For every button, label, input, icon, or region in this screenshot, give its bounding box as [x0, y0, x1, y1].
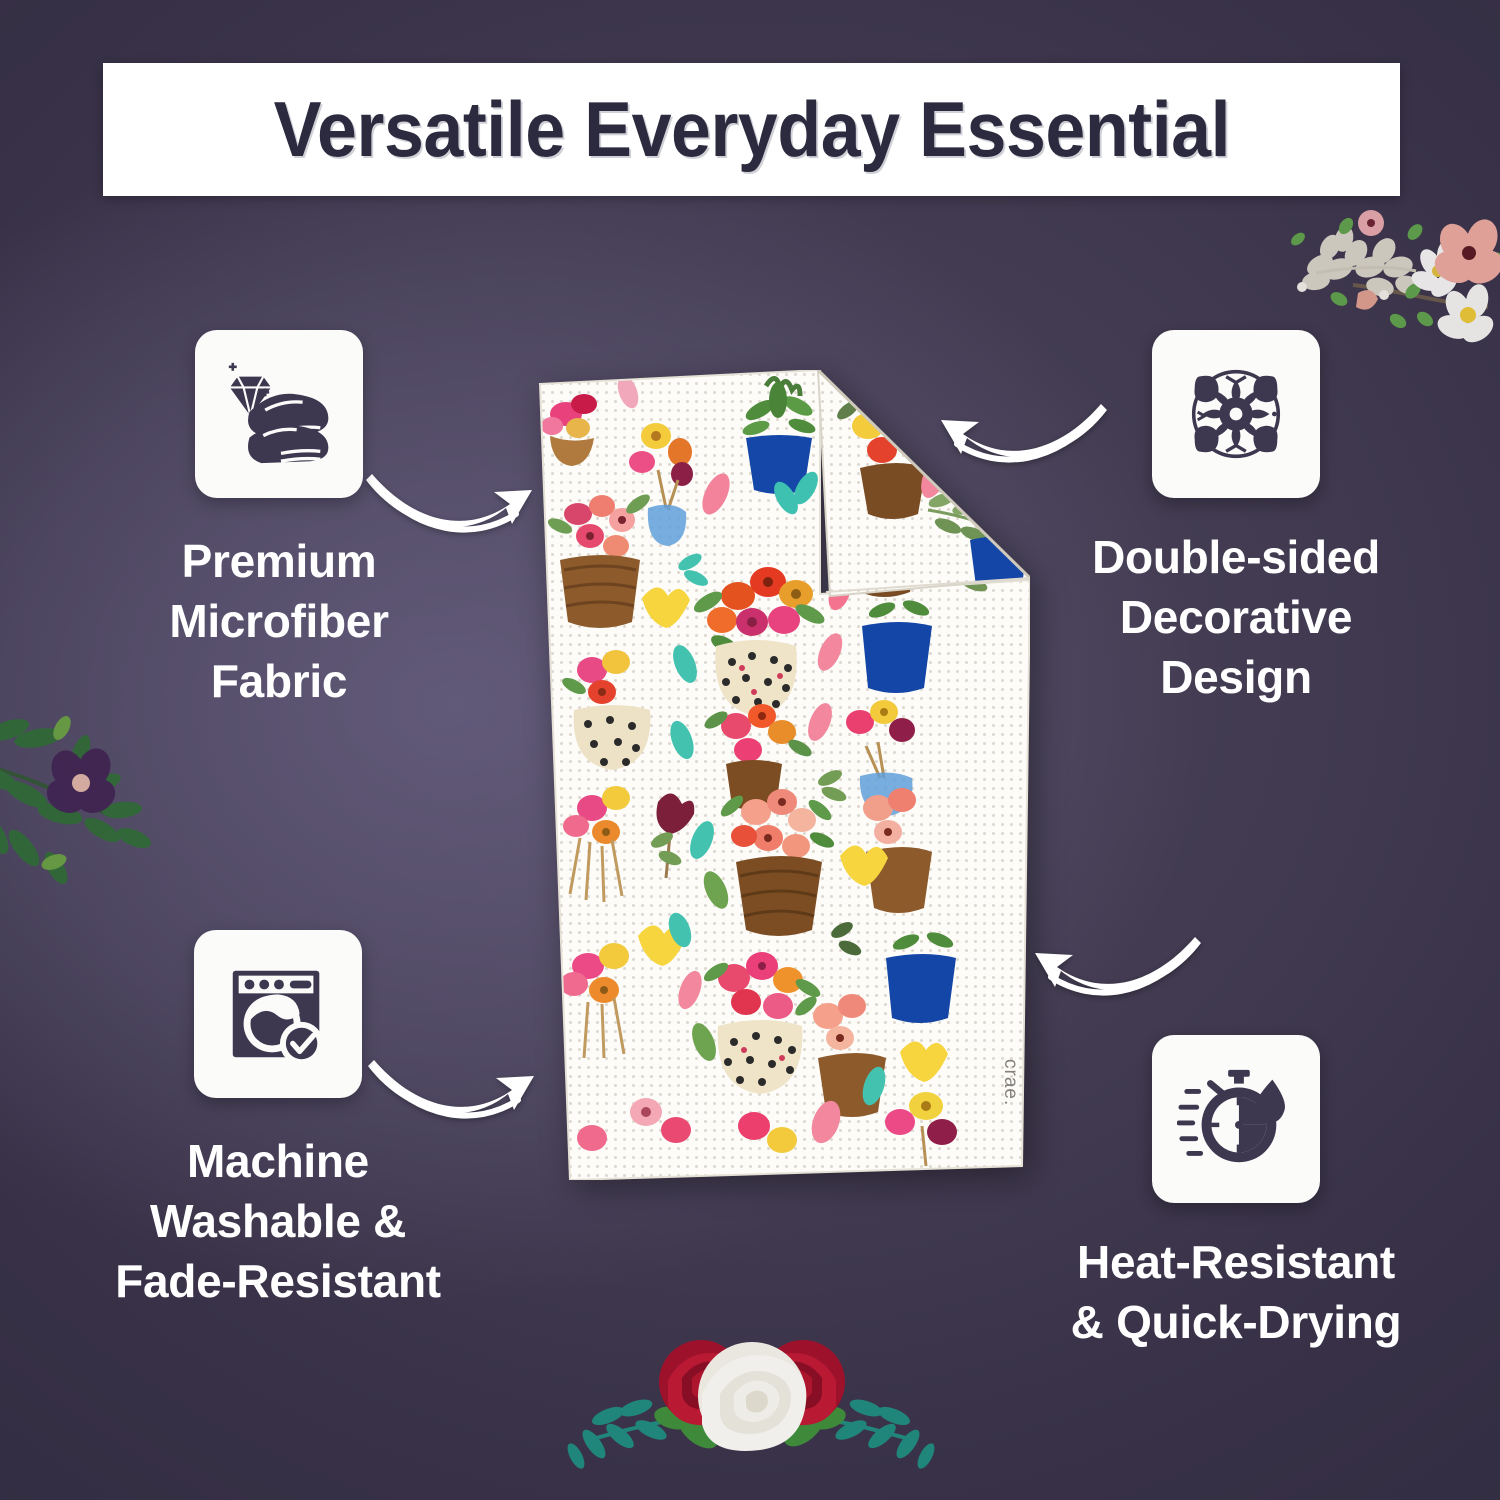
feature-icon-card-premium: [195, 330, 363, 498]
product-image-floral-kitchen-towel: [530, 370, 1030, 1180]
feature-label-premium: Premium Microfiber Fabric: [169, 532, 388, 711]
feature-heat-resistant-quick-drying: Heat-Resistant & Quick-Drying: [1036, 1035, 1436, 1353]
feature-icon-card-washable: [194, 930, 362, 1098]
floral-branch-left-decoration: [0, 688, 180, 900]
rose-arrangement-bottom-decoration: [556, 1338, 946, 1498]
feature-label-heat: Heat-Resistant & Quick-Drying: [1071, 1233, 1402, 1353]
title-banner: Versatile Everyday Essential: [103, 63, 1400, 196]
arrow-bottom-right: [1032, 915, 1207, 1005]
feature-machine-washable-fade-resistant: Machine Washable & Fade-Resistant: [78, 930, 478, 1311]
feature-premium-microfiber-fabric: Premium Microfiber Fabric: [94, 330, 464, 711]
feature-label-double-sided: Double-sided Decorative Design: [1092, 528, 1380, 707]
feature-icon-card-double-sided: [1152, 330, 1320, 498]
washing-machine-check-icon: [219, 955, 337, 1073]
infographic-canvas: Versatile Everyday Essential: [0, 0, 1500, 1500]
feature-label-washable: Machine Washable & Fade-Resistant: [115, 1132, 441, 1311]
product-brand-tag: crae.: [995, 1050, 1021, 1116]
feature-icon-card-heat: [1152, 1035, 1320, 1203]
floral-ornament-icon: [1177, 355, 1295, 473]
diamond-folded-towels-icon: [220, 355, 338, 473]
stopwatch-droplet-icon: [1177, 1060, 1295, 1178]
page-title: Versatile Everyday Essential: [273, 84, 1230, 175]
feature-double-sided-decorative-design: Double-sided Decorative Design: [1036, 330, 1436, 707]
